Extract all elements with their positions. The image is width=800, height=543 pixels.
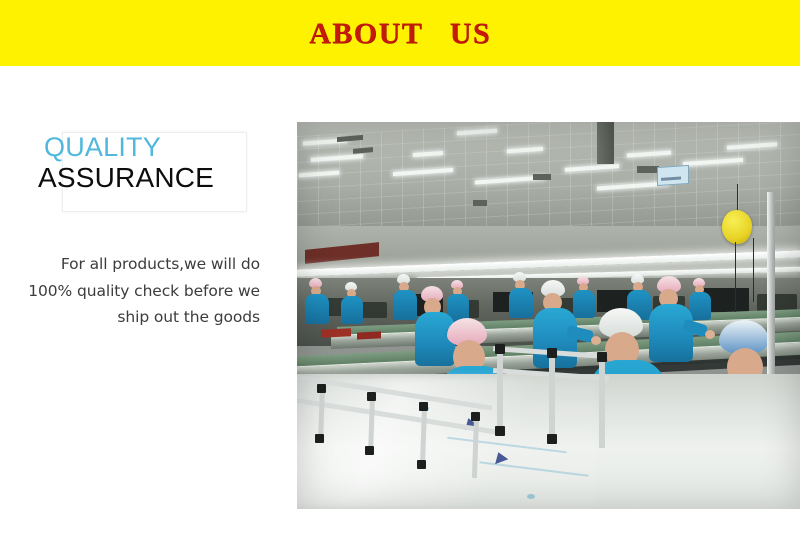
quality-description-paragraph: For all products,we will do 100% quality…: [0, 251, 260, 331]
page-header-banner: ABOUT US: [0, 0, 800, 66]
worker-hand: [591, 336, 601, 345]
paragraph-line-1: For all products,we will do: [0, 251, 260, 278]
trolley-joint: [365, 446, 374, 455]
quality-assurance-section: QUALITY ASSURANCE For all products,we wi…: [0, 66, 290, 543]
worker-body: [305, 294, 329, 324]
trolley-leg: [497, 348, 503, 434]
trolley-joint: [419, 402, 428, 411]
page-title: ABOUT US: [0, 17, 800, 51]
trolley-joint: [315, 434, 324, 443]
yellow-balancer-hoist: [722, 210, 752, 244]
trolley-joint: [547, 348, 557, 358]
hanging-sign: [657, 165, 689, 186]
trolley-joint: [417, 460, 426, 469]
heading-assurance: ASSURANCE: [38, 164, 268, 193]
ceiling-fixture: [637, 166, 659, 173]
paragraph-line-3: ship out the goods: [0, 304, 260, 331]
paragraph-line-2: 100% quality check before we: [0, 278, 260, 305]
worker-body: [341, 296, 363, 324]
red-toolbox: [357, 331, 381, 339]
worker-body: [393, 290, 417, 320]
trolley-leg: [549, 352, 555, 442]
trolley-joint: [317, 384, 326, 393]
floor-marker-dot: [527, 494, 535, 499]
worker-body: [509, 288, 533, 318]
machine-unit: [359, 302, 387, 318]
trolley-joint: [495, 344, 505, 354]
trolley-joint: [597, 352, 607, 362]
balancer-cable: [737, 184, 738, 212]
balancer-cable: [735, 242, 736, 312]
red-toolbox: [321, 328, 351, 338]
trolley-leg: [599, 356, 605, 448]
factory-photo: [297, 122, 800, 509]
trolley-joint: [495, 426, 505, 436]
trolley-joint: [367, 392, 376, 401]
heading-text-group: QUALITY ASSURANCE: [38, 134, 268, 192]
heading-quality: QUALITY: [38, 134, 268, 162]
balancer-cable: [753, 238, 754, 302]
worker-hand: [705, 330, 715, 339]
trolley-joint: [547, 434, 557, 444]
trolley-joint: [471, 412, 480, 421]
worker-body: [573, 290, 595, 318]
ceiling-fixture: [533, 174, 551, 180]
ceiling-fixture: [473, 200, 487, 206]
ceiling-duct: [597, 122, 614, 164]
worker-body: [649, 304, 693, 362]
